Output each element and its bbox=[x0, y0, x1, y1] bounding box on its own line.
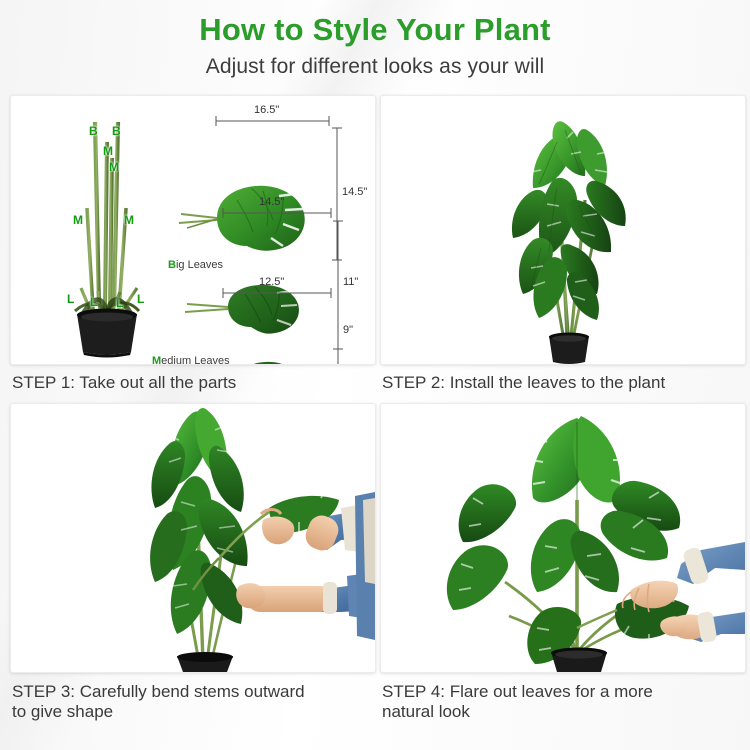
header: How to Style Your Plant Adjust for diffe… bbox=[0, 0, 750, 79]
step-4-caption: STEP 4: Flare out leaves for a more natu… bbox=[382, 682, 742, 722]
plant-pot-4 bbox=[551, 648, 607, 673]
plant-pot-1 bbox=[77, 309, 137, 358]
step-3-caption: STEP 3: Carefully bend stems outward to … bbox=[12, 682, 372, 722]
stem-label-l-3: L bbox=[116, 296, 123, 310]
step-2-illustration bbox=[381, 96, 745, 364]
infographic-page: How to Style Your Plant Adjust for diffe… bbox=[0, 0, 750, 750]
medium-leaf-width-label: 14.5" bbox=[259, 196, 284, 208]
lower-arm-3 bbox=[236, 572, 375, 620]
stem-label-l-4: L bbox=[137, 292, 144, 306]
step-cell-3: STEP 3: Carefully bend stems outward to … bbox=[10, 403, 374, 728]
page-title: How to Style Your Plant bbox=[0, 12, 750, 48]
plant-pot-3 bbox=[177, 652, 233, 672]
plant-leaves-2 bbox=[512, 121, 626, 320]
big-leaves-label: Big Leaves bbox=[168, 259, 223, 271]
step-cell-2: STEP 2: Install the leaves to the plant bbox=[380, 95, 744, 401]
leaflet-height-label: 9" bbox=[343, 324, 353, 336]
stem-label-l-1: L bbox=[67, 292, 74, 306]
step-3-illustration bbox=[11, 404, 375, 672]
plant-pot-2 bbox=[549, 333, 589, 365]
stem-label-l-2: L bbox=[90, 295, 97, 309]
step-1-caption: STEP 1: Take out all the parts bbox=[12, 373, 372, 395]
step-cell-4: STEP 4: Flare out leaves for a more natu… bbox=[380, 403, 744, 728]
stem-label-m-4: M bbox=[124, 213, 134, 227]
step-2-panel[interactable] bbox=[380, 95, 746, 365]
medium-leaf-height-label: 11" bbox=[343, 276, 358, 288]
step-3-panel[interactable] bbox=[10, 403, 376, 673]
leaflet-width-label: 12.5" bbox=[259, 276, 284, 288]
medium-leaves-label: Medium Leaves bbox=[152, 355, 230, 365]
medium-leaf-sample bbox=[185, 285, 299, 334]
stem-label-b-1: B bbox=[89, 124, 98, 138]
torso-3 bbox=[355, 492, 375, 640]
stem-label-b-2: B bbox=[112, 124, 121, 138]
step-2-caption: STEP 2: Install the leaves to the plant bbox=[382, 373, 742, 395]
plant-leaves-3 bbox=[150, 408, 248, 634]
steps-grid: 16.5" 14.5" 14.5" 11" 12.5" 9" Big Leave… bbox=[10, 95, 740, 728]
stem-label-m-2: M bbox=[109, 160, 119, 174]
step-1-panel[interactable]: 16.5" 14.5" 14.5" 11" 12.5" 9" Big Leave… bbox=[10, 95, 376, 365]
stem-label-m-3: M bbox=[73, 213, 83, 227]
step-cell-1: 16.5" 14.5" 14.5" 11" 12.5" 9" Big Leave… bbox=[10, 95, 374, 401]
step-4-panel[interactable] bbox=[380, 403, 746, 673]
page-subtitle: Adjust for different looks as your will bbox=[0, 55, 750, 79]
big-leaf-width-label: 16.5" bbox=[254, 104, 279, 116]
stem-label-m-1: M bbox=[103, 144, 113, 158]
big-leaf-height-label: 14.5" bbox=[342, 186, 367, 198]
step-1-illustration bbox=[11, 96, 375, 364]
step-4-illustration bbox=[381, 404, 745, 672]
